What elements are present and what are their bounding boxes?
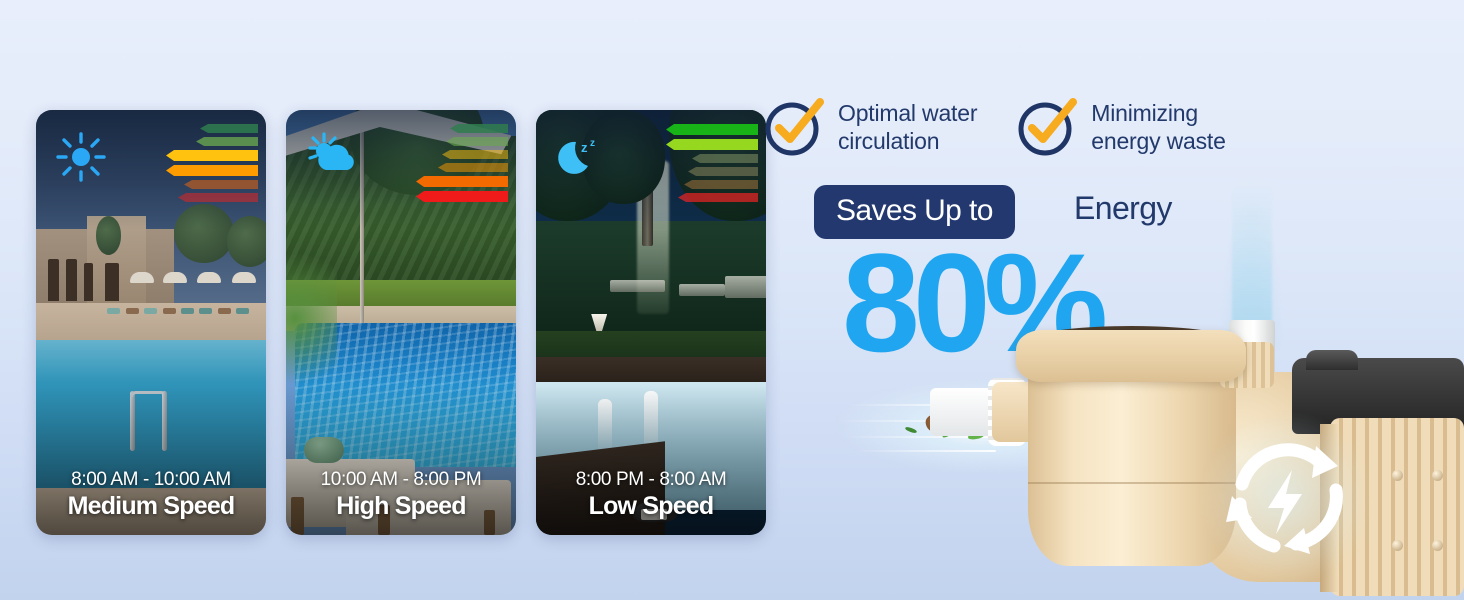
- card-caption: 10:00 AM - 8:00 PM High Speed: [286, 469, 516, 521]
- strainer-lid: [1016, 330, 1246, 382]
- energy-bar: [450, 124, 508, 133]
- energy-bar: [416, 176, 508, 187]
- energy-bar: [684, 180, 758, 189]
- energy-bar: [692, 154, 758, 163]
- energy-rating-bars: [166, 124, 258, 206]
- recycle-energy-icon: [1218, 430, 1354, 566]
- check-circle-icon: [1015, 96, 1077, 158]
- energy-bar: [166, 150, 258, 161]
- benefits-list: Optimal water circulation Minimizing ene…: [762, 96, 1226, 158]
- schedule-card-medium-speed[interactable]: 8:00 AM - 10:00 AM Medium Speed: [36, 110, 266, 535]
- energy-bar: [184, 180, 258, 189]
- card-caption: 8:00 PM - 8:00 AM Low Speed: [536, 469, 766, 521]
- schedule-card-high-speed[interactable]: 10:00 AM - 8:00 PM High Speed: [286, 110, 516, 535]
- energy-rating-bars: [416, 124, 508, 206]
- schedule-cards: 8:00 AM - 10:00 AM Medium Speed: [36, 110, 766, 535]
- card-speed-label: Low Speed: [542, 491, 760, 521]
- svg-text:z: z: [590, 138, 595, 149]
- energy-bar: [196, 137, 258, 146]
- benefit-label: Minimizing energy waste: [1091, 96, 1225, 155]
- card-speed-label: High Speed: [292, 491, 510, 521]
- card-time-range: 10:00 AM - 8:00 PM: [292, 469, 510, 491]
- energy-bar: [166, 165, 258, 176]
- energy-bar: [178, 193, 258, 202]
- svg-text:z: z: [581, 140, 588, 155]
- energy-bar: [688, 167, 758, 176]
- benefit-label: Optimal water circulation: [838, 96, 977, 155]
- card-time-range: 8:00 PM - 8:00 AM: [542, 469, 760, 491]
- card-caption: 8:00 AM - 10:00 AM Medium Speed: [36, 469, 266, 521]
- energy-bar: [678, 193, 758, 202]
- energy-bar: [416, 191, 508, 202]
- energy-label: Energy: [1074, 190, 1172, 227]
- moon-zzz-icon: z z: [554, 130, 608, 184]
- energy-bar: [200, 124, 258, 133]
- schedule-card-low-speed[interactable]: z z 8:00 PM - 8:00 AM Low Speed: [536, 110, 766, 535]
- sun-icon: [54, 130, 108, 184]
- benefit-optimal-water-circulation: Optimal water circulation: [762, 96, 977, 158]
- benefit-minimizing-energy-waste: Minimizing energy waste: [1015, 96, 1225, 158]
- check-circle-icon: [762, 96, 824, 158]
- energy-bar: [666, 139, 758, 150]
- energy-bar: [666, 124, 758, 135]
- energy-rating-bars: [666, 124, 758, 206]
- card-time-range: 8:00 AM - 10:00 AM: [42, 469, 260, 491]
- sun-cloud-icon: [304, 130, 358, 184]
- energy-bar: [446, 137, 508, 146]
- energy-bar: [438, 163, 508, 172]
- energy-bar: [442, 150, 508, 159]
- card-speed-label: Medium Speed: [42, 491, 260, 521]
